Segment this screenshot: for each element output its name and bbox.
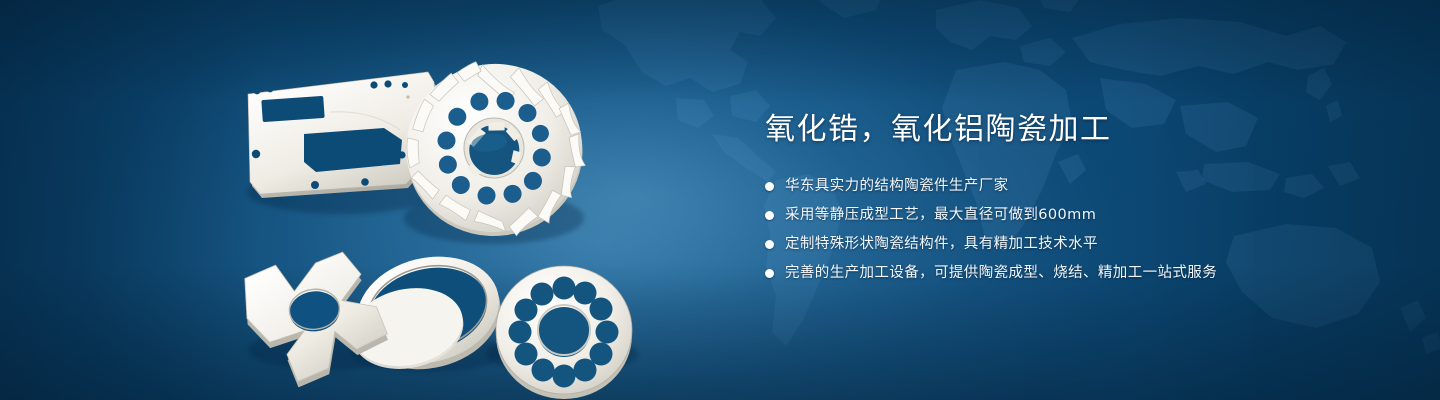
hero-banner: 氧化锆，氧化铝陶瓷加工 华东具实力的结构陶瓷件生产厂家 采用等静压成型工艺，最大…: [0, 0, 1440, 400]
ceramic-perforated-disc-part: [496, 266, 632, 399]
banner-copy: 氧化锆，氧化铝陶瓷加工 华东具实力的结构陶瓷件生产厂家 采用等静压成型工艺，最大…: [765, 110, 1365, 283]
banner-headline: 氧化锆，氧化铝陶瓷加工: [765, 110, 1365, 150]
feature-item: 完善的生产加工设备，可提供陶瓷成型、烧结、精加工一站式服务: [765, 263, 1365, 283]
feature-item: 采用等静压成型工艺，最大直径可做到600mm: [765, 205, 1365, 225]
feature-text: 采用等静压成型工艺，最大直径可做到600mm: [785, 205, 1096, 225]
feature-item: 华东具实力的结构陶瓷件生产厂家: [765, 176, 1365, 196]
ceramic-cross-part: [241, 248, 392, 392]
bullet-dot-icon: [765, 211, 774, 220]
bullet-dot-icon: [765, 182, 774, 191]
bullet-dot-icon: [765, 269, 774, 278]
feature-item: 定制特殊形状陶瓷结构件，具有精加工技术水平: [765, 234, 1365, 254]
product-photo-group: [232, 42, 702, 382]
feature-text: 定制特殊形状陶瓷结构件，具有精加工技术水平: [785, 234, 1098, 254]
banner-feature-list: 华东具实力的结构陶瓷件生产厂家 采用等静压成型工艺，最大直径可做到600mm 定…: [765, 176, 1365, 283]
feature-text: 完善的生产加工设备，可提供陶瓷成型、烧结、精加工一站式服务: [785, 263, 1217, 283]
feature-text: 华东具实力的结构陶瓷件生产厂家: [785, 176, 1009, 196]
bullet-dot-icon: [765, 240, 774, 249]
